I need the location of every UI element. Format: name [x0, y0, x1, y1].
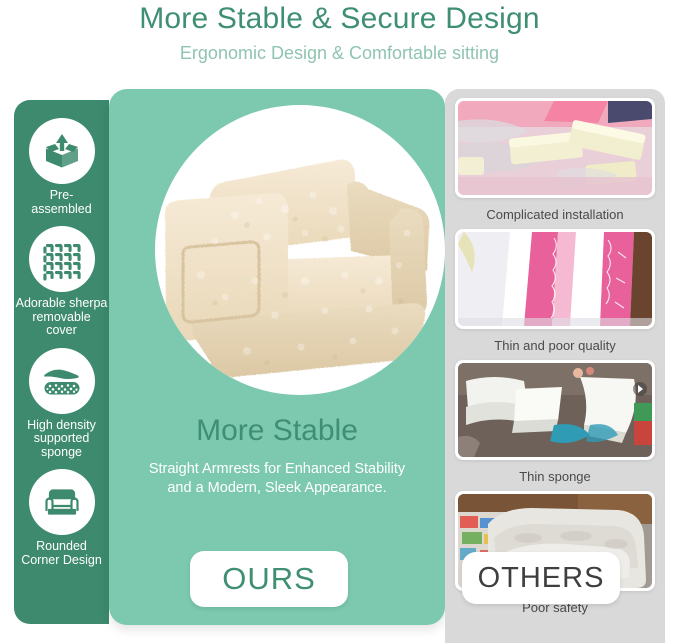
others-badge: OTHERS	[462, 552, 620, 604]
feature-label: Pre- assembled	[14, 189, 109, 216]
photo-thin-poor-quality	[458, 232, 652, 326]
ours-description: Straight Armrests for Enhanced Stability…	[109, 460, 445, 498]
ours-badge-label: OURS	[222, 561, 316, 597]
feature-label: Rounded Corner Design	[14, 540, 109, 567]
feature-rounded-corner: Rounded Corner Design	[14, 469, 109, 567]
feature-sherpa-cover: Adorable sherpa removable cover	[14, 226, 109, 338]
feature-pre-assembled: Pre- assembled	[14, 118, 109, 216]
others-photo-card	[455, 360, 655, 460]
armchair-icon	[29, 469, 95, 535]
others-caption: Thin sponge	[445, 469, 665, 484]
ours-heading: More Stable	[109, 414, 445, 448]
page-header: More Stable & Secure Design Ergonomic De…	[0, 0, 679, 88]
others-photo-card	[455, 229, 655, 329]
others-photo-card	[455, 98, 655, 198]
feature-label: Adorable sherpa removable cover	[14, 297, 109, 338]
ours-panel: More Stable Straight Armrests for Enhanc…	[109, 89, 445, 625]
feature-high-density-sponge: High density supported sponge	[14, 348, 109, 460]
feature-label: High density supported sponge	[14, 419, 109, 460]
hand-pressing-sponge-icon	[29, 348, 95, 414]
others-panel: Complicated installation	[445, 89, 665, 643]
others-caption: Thin and poor quality	[445, 338, 665, 353]
open-box-arrow-icon	[29, 118, 95, 184]
photo-thin-sponge	[458, 363, 652, 457]
page-subtitle: Ergonomic Design & Comfortable sitting	[0, 43, 679, 64]
woven-fabric-icon	[29, 226, 95, 292]
others-badge-label: OTHERS	[478, 562, 605, 595]
product-photo	[155, 105, 445, 395]
feature-sidebar: Pre- assembled	[14, 100, 109, 624]
page-title: More Stable & Secure Design	[0, 2, 679, 36]
others-caption: Complicated installation	[445, 207, 665, 222]
ours-badge: OURS	[190, 551, 348, 607]
photo-complicated-installation	[458, 101, 652, 195]
